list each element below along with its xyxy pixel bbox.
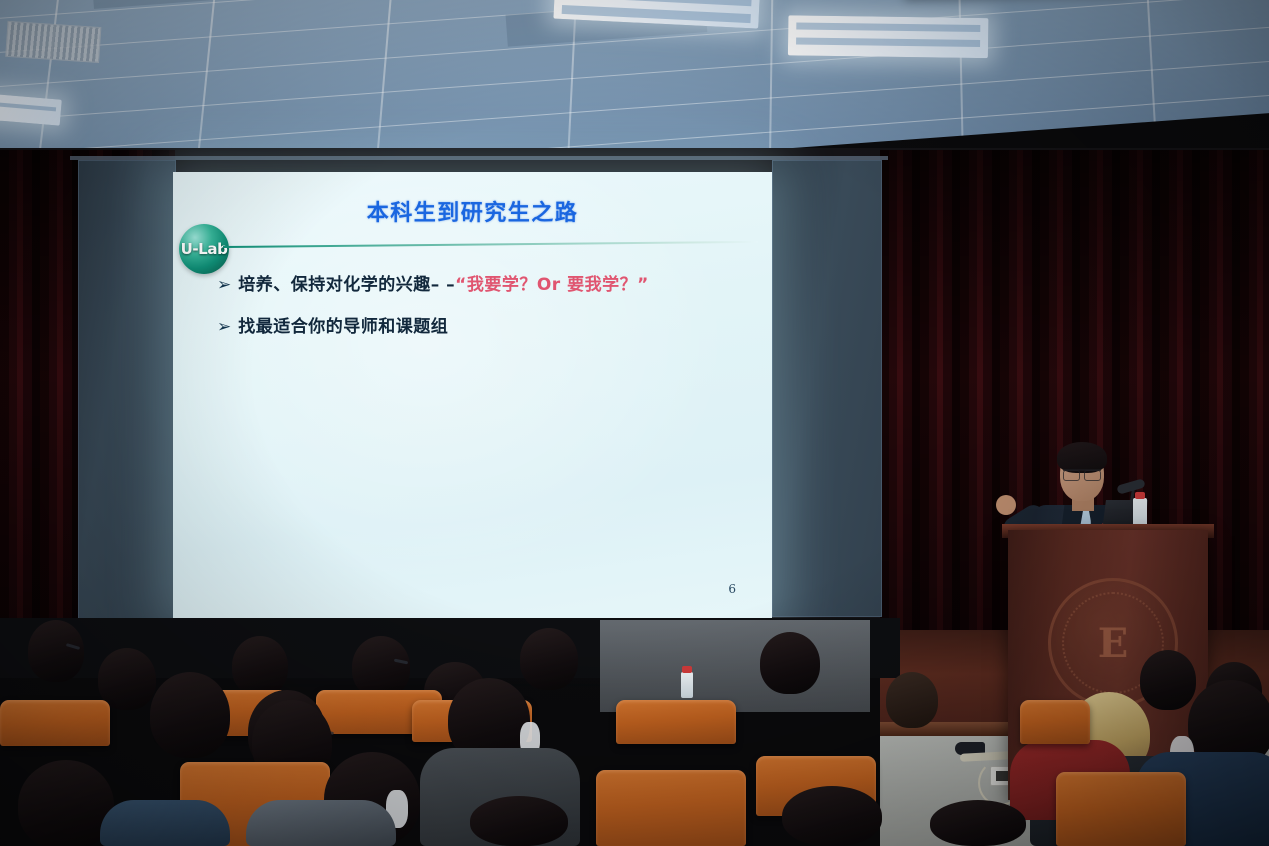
u-lab-logo-text: U-Lab [181,240,228,258]
audience-head [28,620,84,682]
bullet-text: 找最适合你的导师和课题组 [238,312,448,337]
auditorium-seat [596,770,746,846]
audience-head [930,800,1026,846]
whiteboard-panel-left [78,160,176,624]
audience-shoulders [100,800,230,846]
auditorium-seat [0,700,110,746]
auditorium-seat [616,700,736,744]
audience-head [352,636,410,698]
auditorium-seat [1056,772,1186,846]
u-lab-logo-icon: U-Lab [179,224,229,274]
audience-head [886,672,938,728]
slide-page-number: 6 [728,582,736,596]
bullet-highlight: “我要学？Or 要我学？” [455,275,649,295]
audience-head [760,632,820,694]
whiteboard-panel-right [772,160,882,617]
lecture-hall-photo: 本科生到研究生之路 U-Lab ➢ 培养、保持对化学的兴趣– –“我要学？Or … [0,0,1269,846]
audience-head [98,648,156,710]
slide-bullet-list: ➢ 培养、保持对化学的兴趣– –“我要学？Or 要我学？” ➢ 找最适合你的导师… [217,270,752,354]
screen-frame [70,156,888,160]
glasses-icon [1063,469,1101,480]
water-bottle-icon [681,672,693,698]
front-desk [600,620,870,712]
presenter-left-hand [996,495,1016,515]
bullet-text: 培养、保持对化学的兴趣– –“我要学？Or 要我学？” [238,270,649,295]
audience-head [470,796,568,846]
auditorium-seat [1020,700,1090,744]
projector-glow [173,172,772,618]
audience-head [150,672,230,758]
audience-head [520,628,578,690]
bullet-marker-icon: ➢ [217,318,231,335]
audience-head [232,636,288,696]
list-item: ➢ 培养、保持对化学的兴趣– –“我要学？Or 要我学？” [217,270,752,295]
bullet-marker-icon: ➢ [217,276,231,293]
list-item: ➢ 找最适合你的导师和课题组 [217,312,752,337]
slide-title: 本科生到研究生之路 [173,195,772,227]
audience-head [1140,650,1196,710]
projected-slide: 本科生到研究生之路 U-Lab ➢ 培养、保持对化学的兴趣– –“我要学？Or … [173,172,772,618]
title-divider-line [223,241,758,248]
audience-shoulders [246,800,396,846]
audience-head [782,786,882,846]
